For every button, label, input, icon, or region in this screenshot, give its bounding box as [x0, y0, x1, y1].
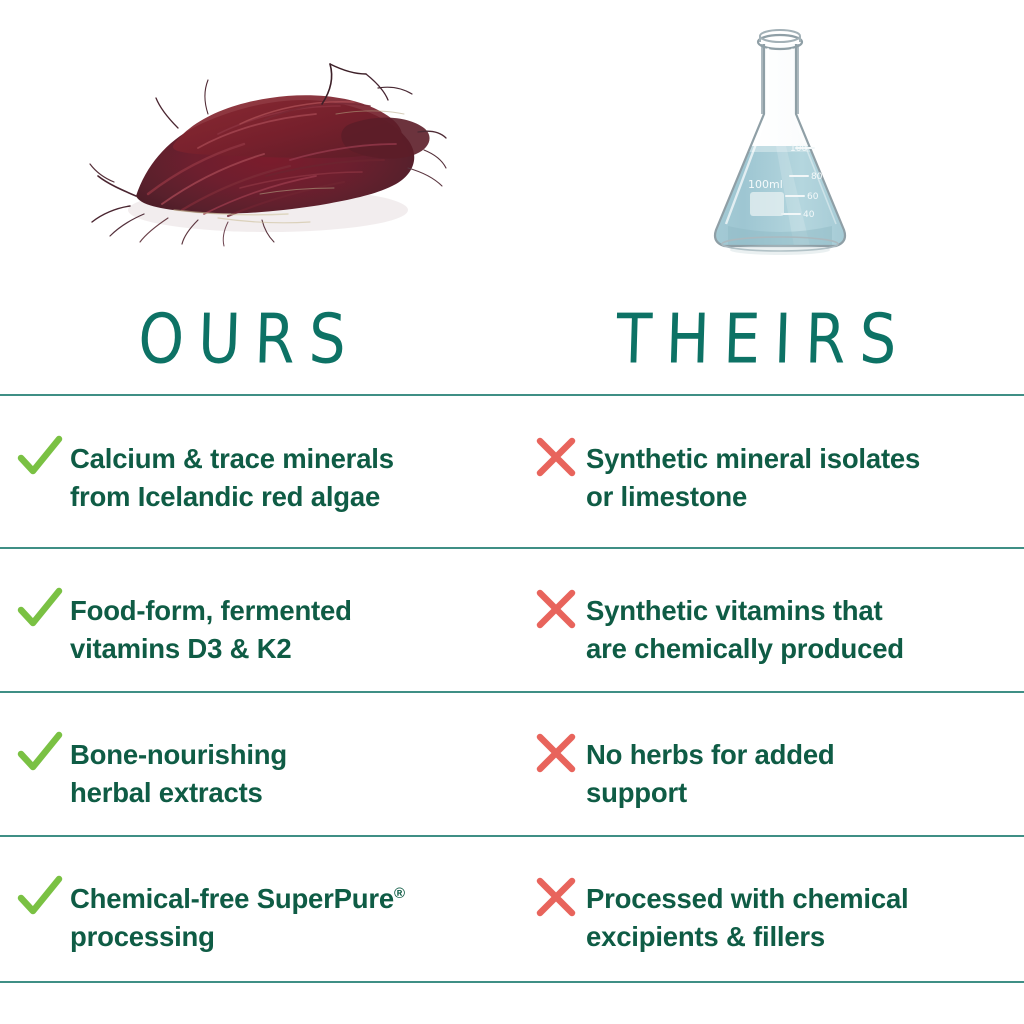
row-4-theirs-text: Processed with chemical excipients & fil… [586, 877, 909, 956]
row-3-ours-text: Bone-nourishing herbal extracts [70, 733, 287, 812]
row-3-theirs-text: No herbs for added support [586, 733, 835, 812]
row-4-ours-text: Chemical-free SuperPure®processing [70, 877, 405, 956]
flask-grad-40: 40 [803, 210, 815, 220]
cross-icon [530, 583, 582, 635]
row-4-ours-line1: Chemical-free SuperPure [70, 883, 394, 914]
cross-icon [530, 431, 582, 483]
divider-1 [0, 547, 1024, 549]
divider-3 [0, 835, 1024, 837]
row-1-ours-text: Calcium & trace minerals from Icelandic … [70, 437, 394, 516]
row-4-theirs-cell: Processed with chemical excipients & fil… [530, 877, 1010, 956]
flask-grad-60: 60 [807, 192, 819, 202]
check-icon [14, 727, 66, 779]
divider-bottom [0, 981, 1024, 983]
row-3-theirs-cell: No herbs for added support [530, 733, 1010, 812]
check-icon [14, 871, 66, 923]
red-algae-image [78, 28, 448, 258]
row-1-theirs-text: Synthetic mineral isolates or limestone [586, 437, 920, 516]
check-icon [14, 431, 66, 483]
divider-2 [0, 691, 1024, 693]
row-2-theirs-cell: Synthetic vitamins that are chemically p… [530, 589, 1010, 668]
cross-icon [530, 727, 582, 779]
row-1-theirs-cell: Synthetic mineral isolates or limestone [530, 437, 1010, 516]
comparison-infographic: 100 80 60 40 100ml OURS THEIRS [0, 0, 1024, 1024]
row-3-ours-cell: Bone-nourishing herbal extracts [14, 733, 514, 812]
registered-trademark-symbol: ® [394, 885, 405, 902]
row-4-ours-line2: processing [70, 921, 215, 952]
divider-top [0, 394, 1024, 396]
check-icon [14, 583, 66, 635]
cross-icon [530, 871, 582, 923]
heading-theirs: THEIRS [615, 288, 912, 389]
hero-images: 100 80 60 40 100ml [0, 0, 1024, 288]
row-1-ours-cell: Calcium & trace minerals from Icelandic … [14, 437, 514, 516]
row-2-theirs-text: Synthetic vitamins that are chemically p… [586, 589, 904, 668]
row-2-ours-cell: Food-form, fermented vitamins D3 & K2 [14, 589, 514, 668]
flask-volume-label: 100ml [748, 178, 783, 191]
erlenmeyer-flask-image: 100 80 60 40 100ml [690, 18, 870, 268]
column-headings: OURS THEIRS [0, 288, 1024, 395]
row-4-ours-cell: Chemical-free SuperPure®processing [14, 877, 514, 956]
row-2-ours-text: Food-form, fermented vitamins D3 & K2 [70, 589, 352, 668]
heading-ours: OURS [137, 288, 361, 389]
